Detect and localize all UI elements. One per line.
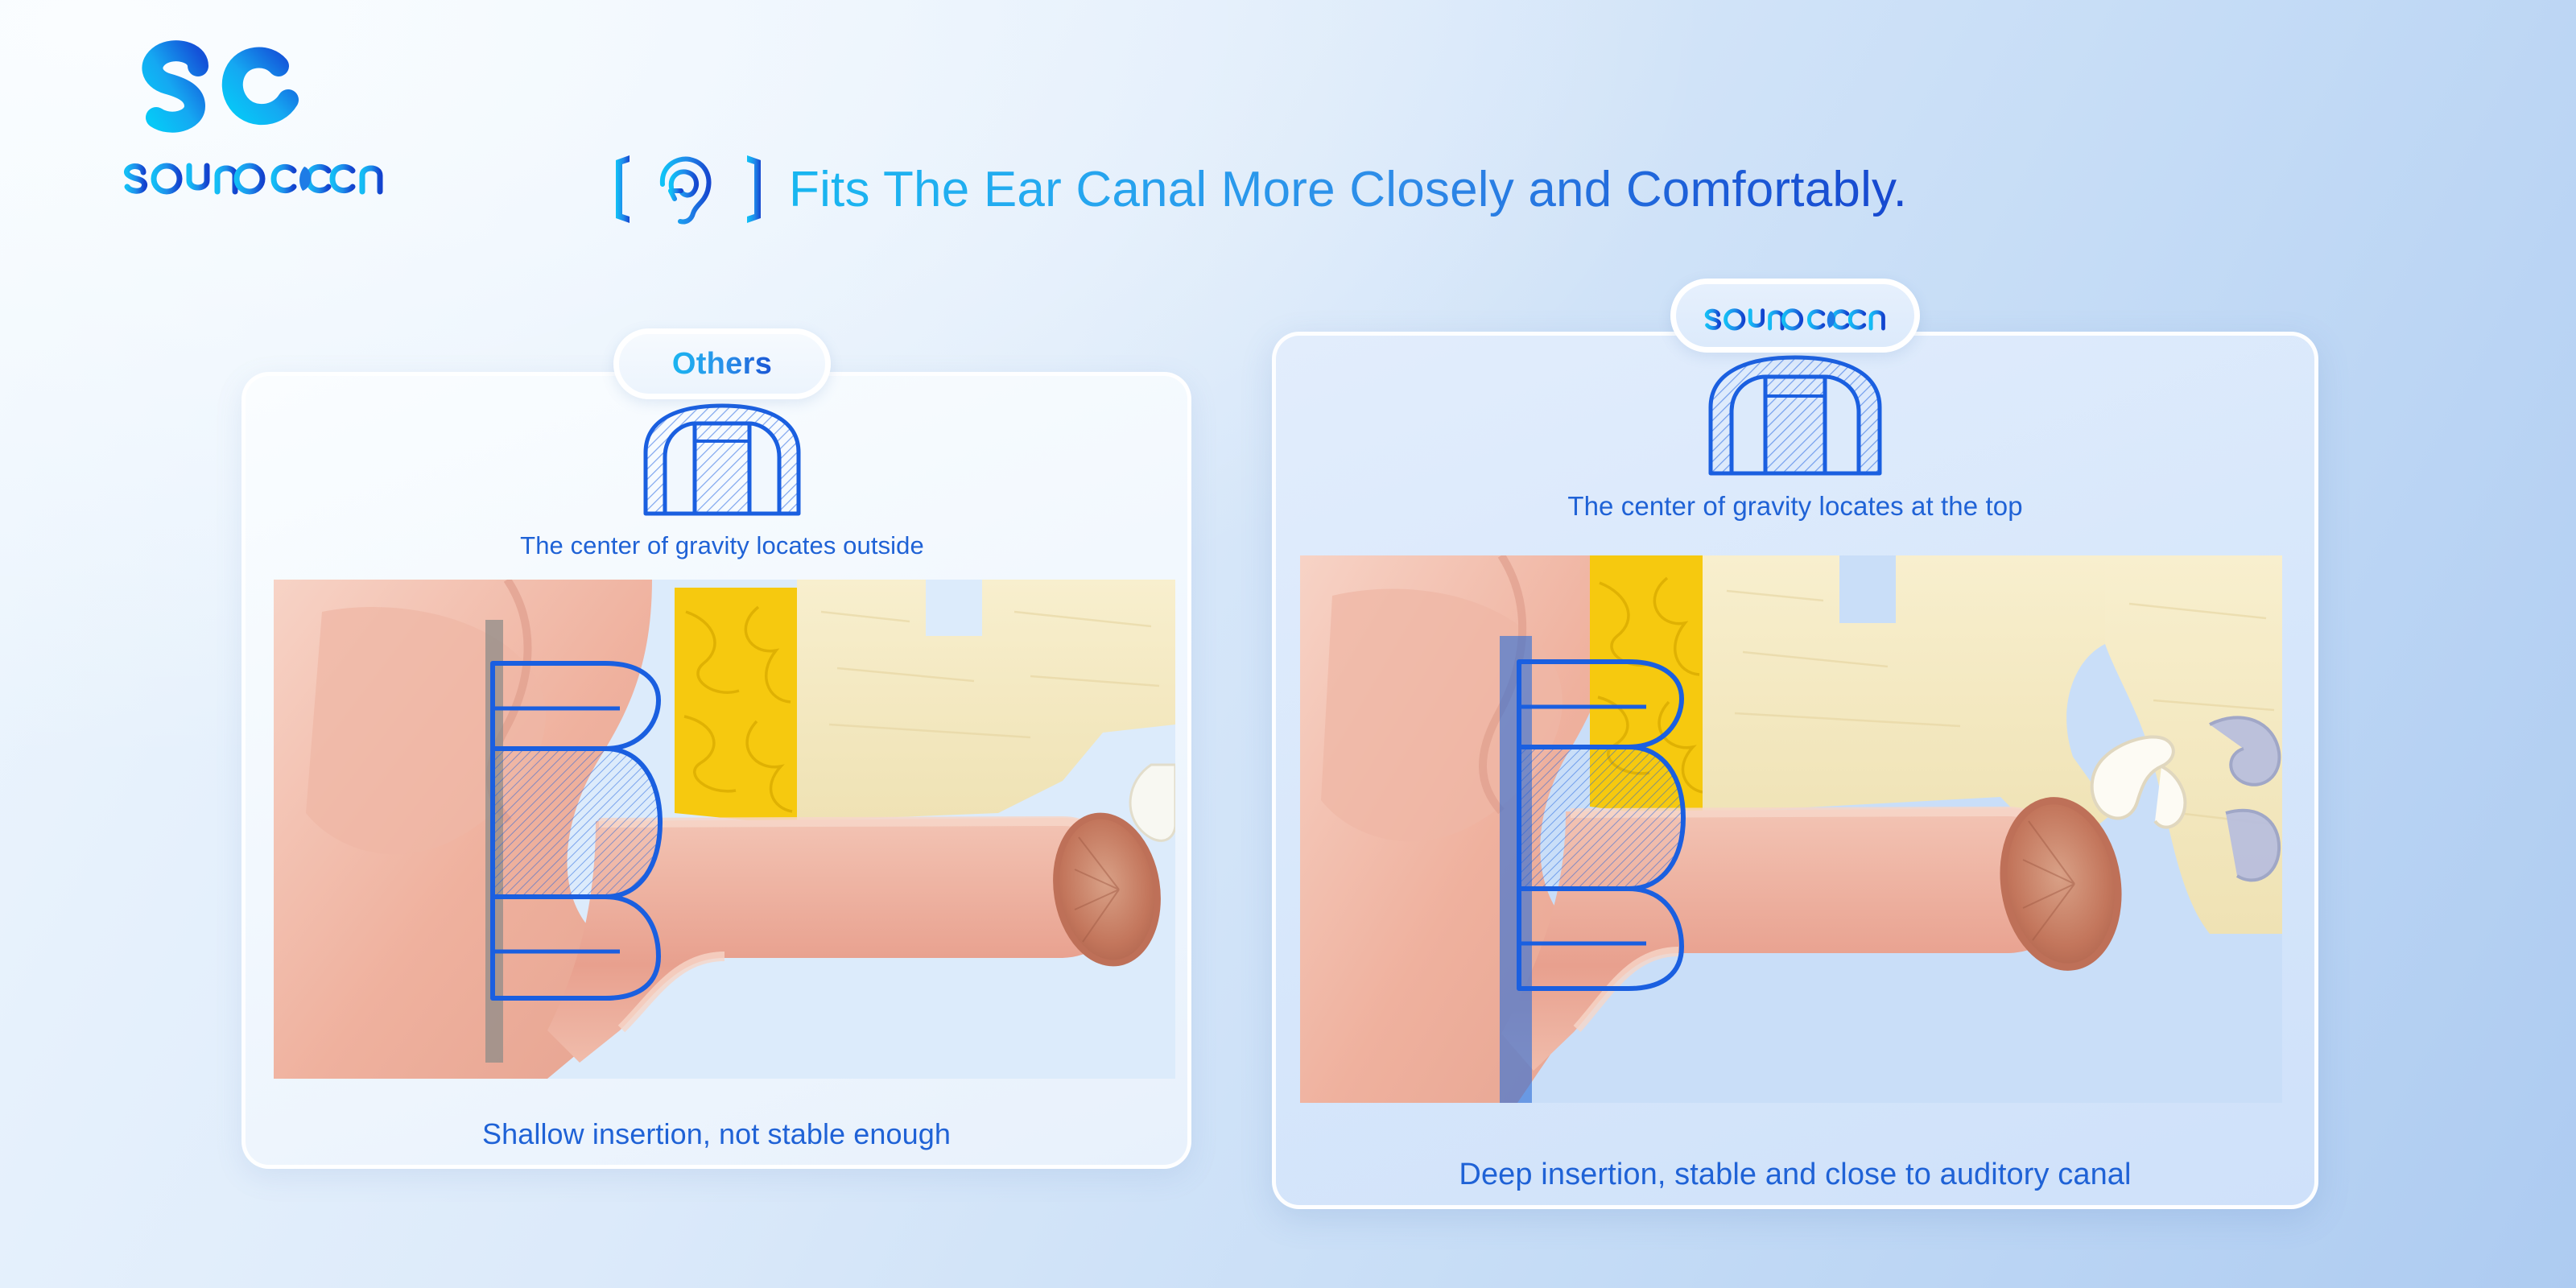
eartip-caption-soundcocoon: The center of gravity locates at the top — [1567, 491, 2022, 522]
badge-soundcocoon: soundcocoon — [1670, 279, 1920, 353]
page-title: Fits The Ear Canal More Closely and Comf… — [789, 161, 1907, 218]
ear-anatomy-illustration-others — [274, 580, 1175, 1079]
bottom-caption-soundcocoon: Deep insertion, stable and close to audi… — [1272, 1158, 2318, 1192]
ear-in-brackets-icon — [612, 149, 765, 229]
sc-monogram-icon — [121, 37, 330, 142]
badge-brand-wordmark — [1703, 297, 1888, 334]
eartip-schematic-others-group: The center of gravity locates outside — [532, 399, 912, 560]
eartip-dome-outline-icon — [634, 399, 810, 520]
headline-row: Fits The Ear Canal More Closely and Comf… — [612, 149, 1907, 229]
badge-others-label: Others — [672, 347, 772, 382]
eartip-caption-others: The center of gravity locates outside — [520, 531, 924, 560]
badge-others: Others — [613, 328, 831, 399]
ear-anatomy-illustration-soundcocoon — [1300, 555, 2282, 1103]
brand-logo — [121, 37, 394, 200]
eartip-dome-outline-icon — [1699, 351, 1891, 480]
bottom-caption-others: Shallow insertion, not stable enough — [242, 1117, 1191, 1151]
brand-wordmark — [121, 147, 386, 200]
eartip-schematic-soundcocoon-group: The center of gravity locates at the top — [1549, 351, 2041, 522]
